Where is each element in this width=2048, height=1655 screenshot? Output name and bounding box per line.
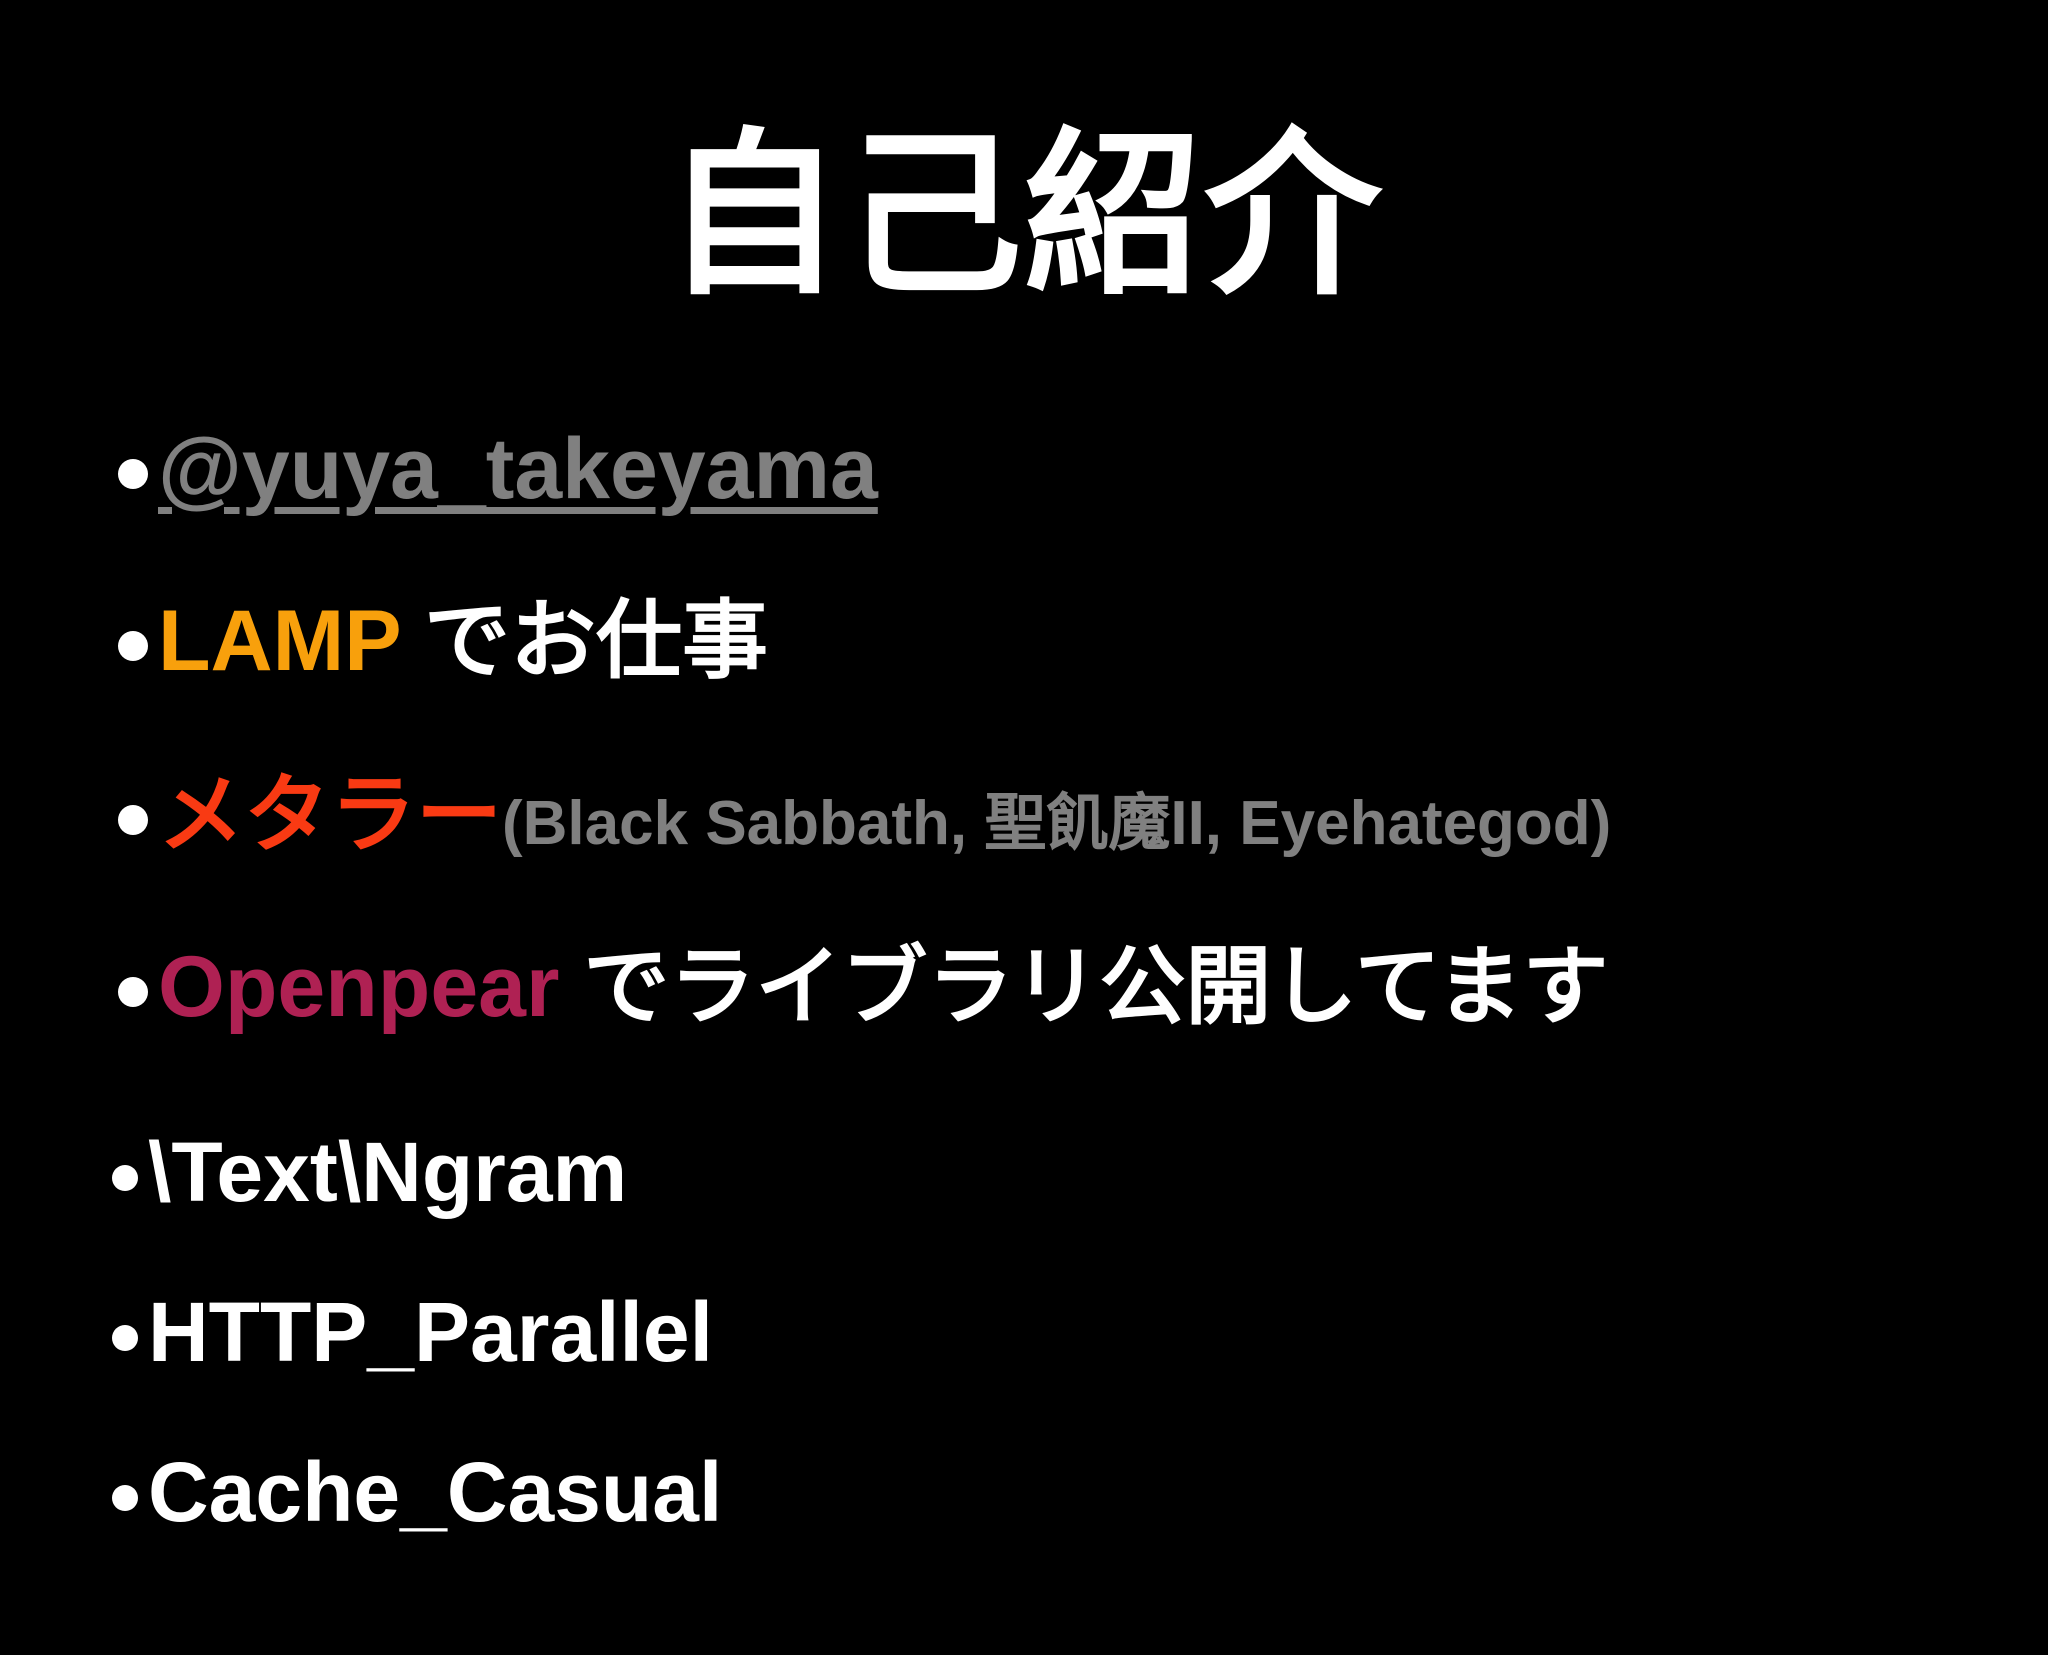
bullet-list: @yuya_takeyama LAMP でお仕事 メタラー(Black Sabb… [0,426,2048,1030]
list-item-cache-casual: Cache_Casual [112,1450,2048,1534]
job-text: でお仕事 [400,593,768,689]
twitter-handle-link[interactable]: @yuya_takeyama [158,421,878,517]
openpear-text: でライブラリ公開してます [559,939,1608,1035]
bullet-dot-icon [112,1325,138,1351]
list-item-http-parallel: HTTP_Parallel [112,1290,2048,1374]
bullet-dot-icon [112,1165,138,1191]
list-item-job: LAMP でお仕事 [118,598,2048,684]
bullet-dot-icon [118,459,148,489]
openpear-highlight: Openpear [158,939,559,1035]
list-item-metaller: メタラー(Black Sabbath, 聖飢魔II, Eyehategod) [118,772,2048,858]
metaller-bands-note: (Black Sabbath, 聖飢魔II, Eyehategod) [502,789,1611,858]
http-parallel-label: HTTP_Parallel [148,1285,713,1379]
list-item-openpear: Openpear でライブラリ公開してます [118,944,2048,1030]
list-item-twitter-handle: @yuya_takeyama [118,426,2048,512]
sub-bullet-list: \Text\Ngram HTTP_Parallel Cache_Casual [0,1130,2048,1534]
lamp-highlight: LAMP [158,593,400,689]
cache-casual-label: Cache_Casual [148,1445,722,1539]
list-item-text-ngram: \Text\Ngram [112,1130,2048,1214]
presentation-slide: 自己紹介 @yuya_takeyama LAMP でお仕事 メタラー(Black… [0,119,2048,1655]
bullet-dot-icon [118,805,148,835]
metaller-highlight: メタラー [158,767,502,863]
page-title: 自己紹介 [0,119,2048,307]
bullet-dot-icon [118,977,148,1007]
bullet-dot-icon [112,1485,138,1511]
bullet-dot-icon [118,631,148,661]
text-ngram-label: \Text\Ngram [148,1125,627,1219]
